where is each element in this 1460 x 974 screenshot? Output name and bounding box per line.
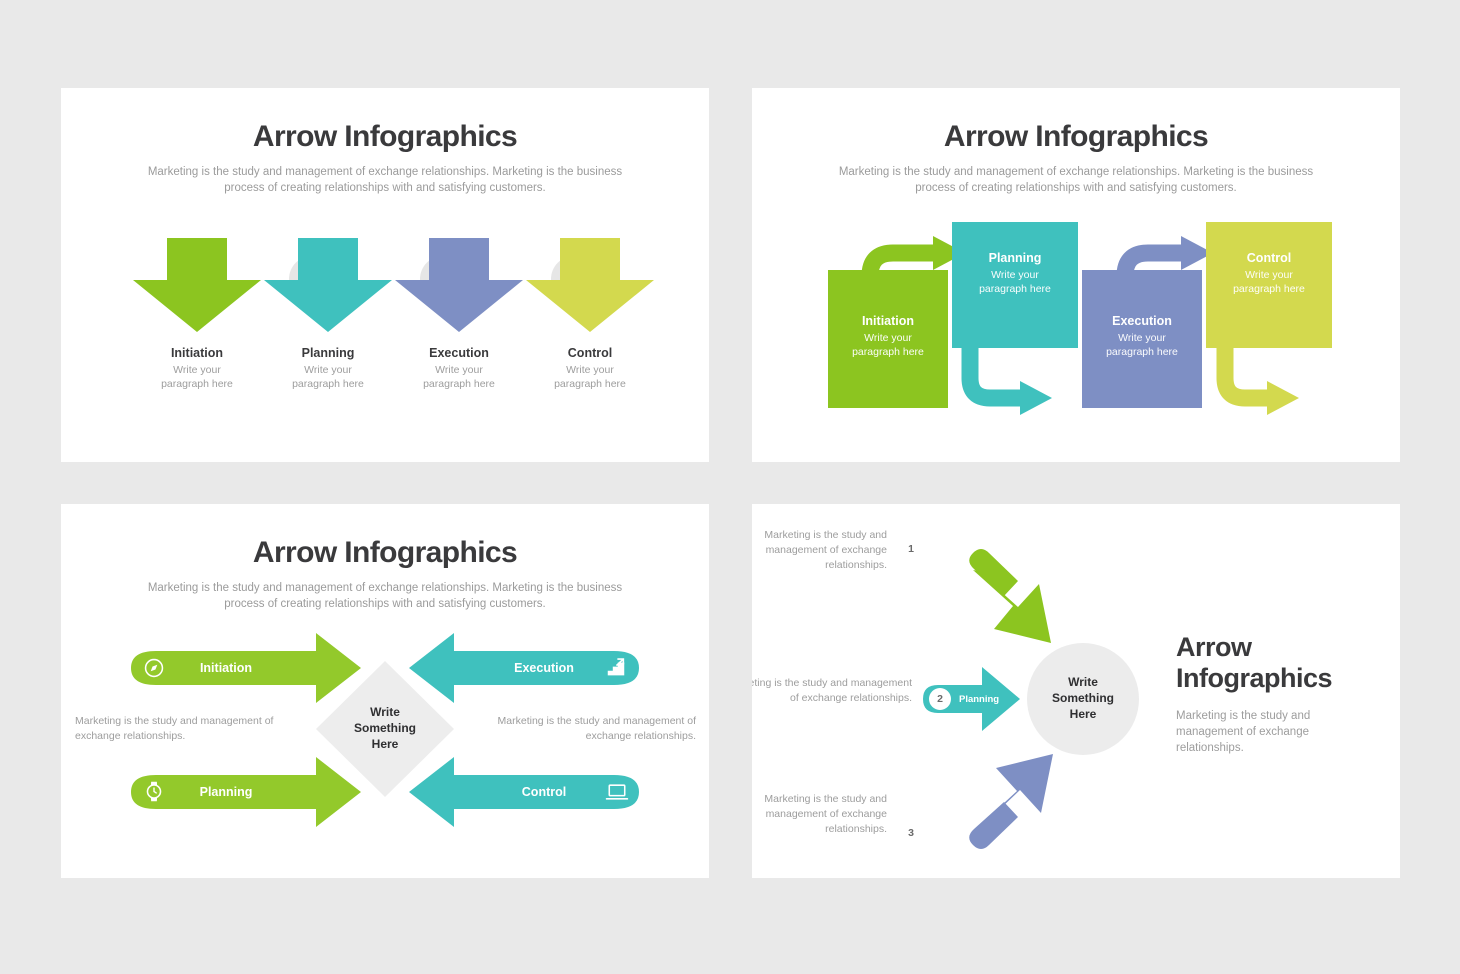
growth-chart-icon: [393, 252, 525, 276]
label-control: Control Write your paragraph here: [524, 346, 656, 391]
badge-number: 1: [908, 543, 914, 555]
center-line2: Something: [325, 720, 445, 736]
page-subtitle: Marketing is the study and management of…: [140, 164, 630, 196]
box-paragraph: Write your paragraph here: [952, 268, 1078, 296]
box-paragraph-line1: Write your: [864, 332, 912, 344]
arrow-execution: [969, 754, 1053, 849]
note-line1: Marketing is the study: [764, 793, 866, 805]
label-planning: Planning Write your paragraph here: [262, 346, 394, 391]
badge-number: 3: [908, 827, 914, 839]
title-line2: Infographics: [1176, 663, 1386, 694]
step-title: Execution: [393, 346, 525, 360]
compass-icon: [131, 252, 263, 276]
step-paragraph-line2: paragraph here: [292, 378, 364, 390]
note-line1: Marketing is the study: [752, 677, 827, 689]
box-paragraph: Write your paragraph here: [1082, 331, 1202, 359]
step-paragraph: Write your paragraph here: [262, 363, 394, 391]
slide-zigzag-boxes: Arrow Infographics Marketing is the stud…: [752, 88, 1400, 462]
pill-arrow-band: Initiation Planning Execution: [61, 629, 709, 849]
page-subtitle: Marketing is the study and management of…: [140, 580, 630, 612]
down-arrow-control[interactable]: [524, 238, 656, 333]
subtitle-line-2: process of creating relationships with a…: [224, 182, 546, 194]
center-line3: Here: [1023, 706, 1143, 722]
label-execution: Execution Write your paragraph here: [393, 346, 525, 391]
note-line1: Marketing is the study and management: [75, 715, 262, 727]
box-paragraph-line1: Write your: [1245, 269, 1293, 281]
pill-initiation[interactable]: Initiation: [131, 651, 321, 685]
step-paragraph-line2: paragraph here: [554, 378, 626, 390]
box-title: Control: [1206, 251, 1332, 265]
step-badge-3: 3: [900, 822, 922, 844]
step-paragraph: Write your paragraph here: [393, 363, 525, 391]
box-paragraph: Write your paragraph here: [828, 331, 948, 359]
note-execution: Marketing is the study and management of…: [762, 792, 887, 837]
subtitle-line-2: process of creating relationships with a…: [224, 598, 546, 610]
box-title: Initiation: [828, 314, 948, 328]
page-subtitle: Marketing is the study and management of…: [1176, 708, 1366, 756]
page-title: Arrow Infographics: [61, 504, 709, 570]
pill-control[interactable]: Control: [449, 775, 639, 809]
step-paragraph-line1: Write your: [173, 364, 221, 376]
subtitle-line1: Marketing is the study and: [1176, 710, 1310, 722]
page-title: Arrow Infographics: [61, 88, 709, 154]
note-initiation: Marketing is the study and management of…: [762, 528, 887, 573]
center-label: Write Something Here: [325, 704, 445, 752]
pill-execution[interactable]: Execution: [449, 651, 639, 685]
compass-icon: [143, 657, 165, 679]
flow-box-execution[interactable]: Execution Write your paragraph here: [1082, 270, 1202, 408]
step-paragraph-line1: Write your: [435, 364, 483, 376]
subtitle-line-1: Marketing is the study and management of…: [148, 582, 622, 594]
slide-radial-arrows: 1 2 3 Initiation Planning Execution Mark…: [752, 504, 1400, 878]
slide-converging-pills: Arrow Infographics Marketing is the stud…: [61, 504, 709, 878]
center-line3: Here: [325, 736, 445, 752]
note-line1: Marketing is the study: [764, 529, 866, 541]
flow-box-planning[interactable]: Planning Write your paragraph here: [952, 222, 1078, 348]
growth-chart-icon: [605, 657, 627, 679]
note-line1: Marketing is the study and management: [498, 715, 685, 727]
page-title: Arrow Infographics: [752, 88, 1400, 154]
step-paragraph: Write your paragraph here: [524, 363, 656, 391]
box-paragraph-line2: paragraph here: [852, 346, 924, 358]
step-title: Control: [524, 346, 656, 360]
laptop-icon: [605, 782, 629, 802]
subtitle-line-1: Marketing is the study and management of…: [839, 166, 1313, 178]
down-arrow-planning[interactable]: [262, 238, 394, 333]
step-badge-2: 2: [929, 688, 951, 710]
watch-icon: [262, 252, 394, 278]
center-line1: Write: [1023, 674, 1143, 690]
step-paragraph: Write your paragraph here: [131, 363, 263, 391]
down-arrow-execution[interactable]: [393, 238, 525, 333]
subtitle-line-1: Marketing is the study and management of…: [148, 166, 622, 178]
subtitle-line-2: process of creating relationships with a…: [915, 182, 1237, 194]
box-title: Planning: [952, 251, 1078, 265]
center-line1: Write: [325, 704, 445, 720]
box-paragraph-line1: Write your: [1118, 332, 1166, 344]
subtitle-line2: management of exchange: [1176, 726, 1309, 738]
watch-icon: [143, 779, 165, 804]
arrow-initiation: [969, 549, 1051, 643]
center-label: Write Something Here: [1023, 674, 1143, 722]
flow-box-control[interactable]: Control Write your paragraph here: [1206, 222, 1332, 348]
step-paragraph-line1: Write your: [566, 364, 614, 376]
badge-number: 2: [937, 693, 943, 705]
note-line3: exchange relationships.: [802, 692, 912, 704]
page-title: Arrow Infographics: [1176, 632, 1386, 694]
step-title: Initiation: [131, 346, 263, 360]
step-paragraph-line2: paragraph here: [423, 378, 495, 390]
down-arrow-initiation[interactable]: [131, 238, 263, 333]
note-right: Marketing is the study and management of…: [451, 714, 696, 744]
laptop-icon: [524, 252, 656, 274]
title-line1: Arrow: [1176, 632, 1386, 663]
down-arrow-labels: Initiation Write your paragraph here Pla…: [61, 346, 709, 416]
arrow-label-planning: Planning: [959, 694, 999, 705]
step-badge-1: 1: [900, 538, 922, 560]
center-line2: Something: [1023, 690, 1143, 706]
radial-canvas: 1 2 3 Initiation Planning Execution Mark…: [752, 504, 1400, 878]
box-paragraph: Write your paragraph here: [1206, 268, 1332, 296]
step-paragraph-line1: Write your: [304, 364, 352, 376]
box-paragraph-line2: paragraph here: [1106, 346, 1178, 358]
note-left: Marketing is the study and management of…: [75, 714, 320, 744]
note-planning: Marketing is the study and management of…: [752, 676, 912, 706]
box-title: Execution: [1082, 314, 1202, 328]
box-paragraph-line2: paragraph here: [979, 283, 1051, 295]
subtitle-line3: relationships.: [1176, 742, 1244, 754]
step-paragraph-line2: paragraph here: [161, 378, 233, 390]
label-initiation: Initiation Write your paragraph here: [131, 346, 263, 391]
pill-planning[interactable]: Planning: [131, 775, 321, 809]
page-subtitle: Marketing is the study and management of…: [831, 164, 1321, 196]
down-arrow-row: [61, 238, 709, 328]
zigzag-flow: Initiation Write your paragraph here Pla…: [752, 206, 1400, 436]
slide-arrows-down: Arrow Infographics Marketing is the stud…: [61, 88, 709, 462]
step-title: Planning: [262, 346, 394, 360]
box-paragraph-line2: paragraph here: [1233, 283, 1305, 295]
flow-box-initiation[interactable]: Initiation Write your paragraph here: [828, 270, 948, 408]
box-paragraph-line1: Write your: [991, 269, 1039, 281]
